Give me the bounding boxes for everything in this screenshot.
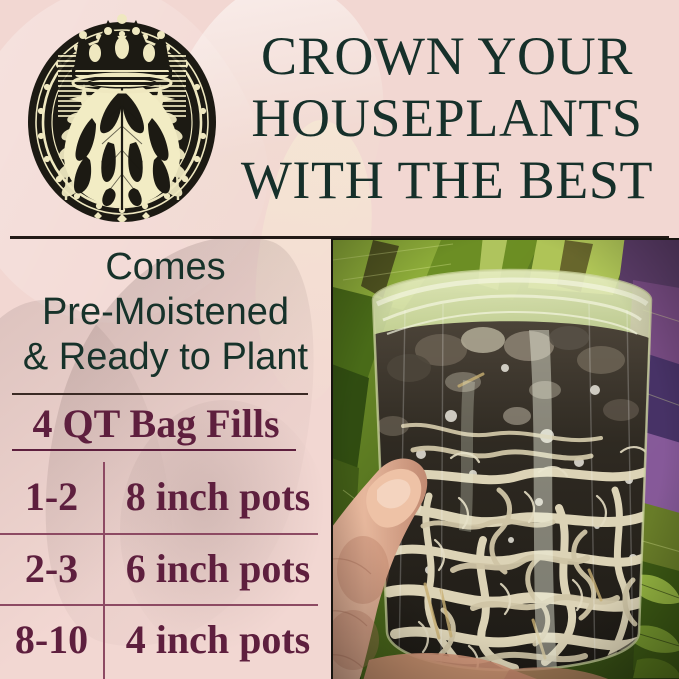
feature-copy-block: Comes Pre-Moistened & Ready to Plant	[0, 248, 331, 376]
copy-line-2: Pre-Moistened	[0, 293, 331, 332]
headline-line-2: HOUSEPLANTS	[251, 91, 642, 145]
crown-monstera-leaf-emblem-icon	[22, 10, 222, 226]
headline: CROWN YOUR HOUSEPLANTS WITH THE BEST	[218, 8, 676, 228]
copy-table-divider	[12, 393, 308, 395]
copy-line-1: Comes	[0, 248, 331, 287]
table-title-underline	[12, 449, 296, 451]
poster-header: CROWN YOUR HOUSEPLANTS WITH THE BEST	[0, 0, 679, 238]
table-row: 8-10 4 inch pots	[0, 605, 331, 675]
table-cell-quantity: 2-3	[0, 549, 103, 589]
copy-line-3: & Ready to Plant	[0, 338, 331, 377]
table-column-divider	[103, 462, 105, 679]
table-row: 2-3 6 inch pots	[0, 534, 331, 604]
table-cell-pot-size: 4 inch pots	[103, 620, 331, 660]
table-cell-pot-size: 8 inch pots	[103, 477, 331, 517]
bag-fills-table-title: 4 QT Bag Fills	[0, 404, 312, 444]
table-row: 1-2 8 inch pots	[0, 462, 331, 532]
table-cell-quantity: 8-10	[0, 620, 103, 660]
root-bound-plant-cup-photo	[331, 238, 679, 679]
table-cell-pot-size: 6 inch pots	[103, 549, 331, 589]
product-infographic-poster: CROWN YOUR HOUSEPLANTS WITH THE BEST Com…	[0, 0, 679, 679]
headline-line-1: CROWN YOUR	[261, 29, 633, 83]
headline-line-3: WITH THE BEST	[241, 153, 653, 207]
table-cell-quantity: 1-2	[0, 477, 103, 517]
